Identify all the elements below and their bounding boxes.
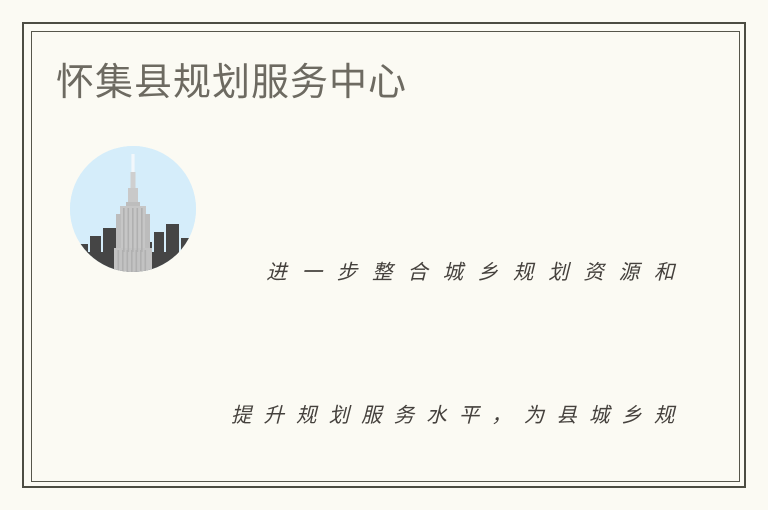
page-title: 怀集县规划服务中心 xyxy=(56,60,407,108)
description-line: 进一步整合城乡规划资源和 xyxy=(231,249,676,297)
city-skyline-icon xyxy=(70,146,196,272)
content-area: 进一步整合城乡规划资源和 提升规划服务水平，为县城乡规 划管理服务。 组织编制县… xyxy=(56,140,676,410)
page-root: 怀集县规划服务中心 xyxy=(0,0,768,510)
city-skyline-badge xyxy=(70,146,196,272)
description-text: 进一步整合城乡规划资源和 提升规划服务水平，为县城乡规 划管理服务。 组织编制县… xyxy=(231,154,676,510)
description-line: 提升规划服务水平，为县城乡规 xyxy=(231,392,676,440)
